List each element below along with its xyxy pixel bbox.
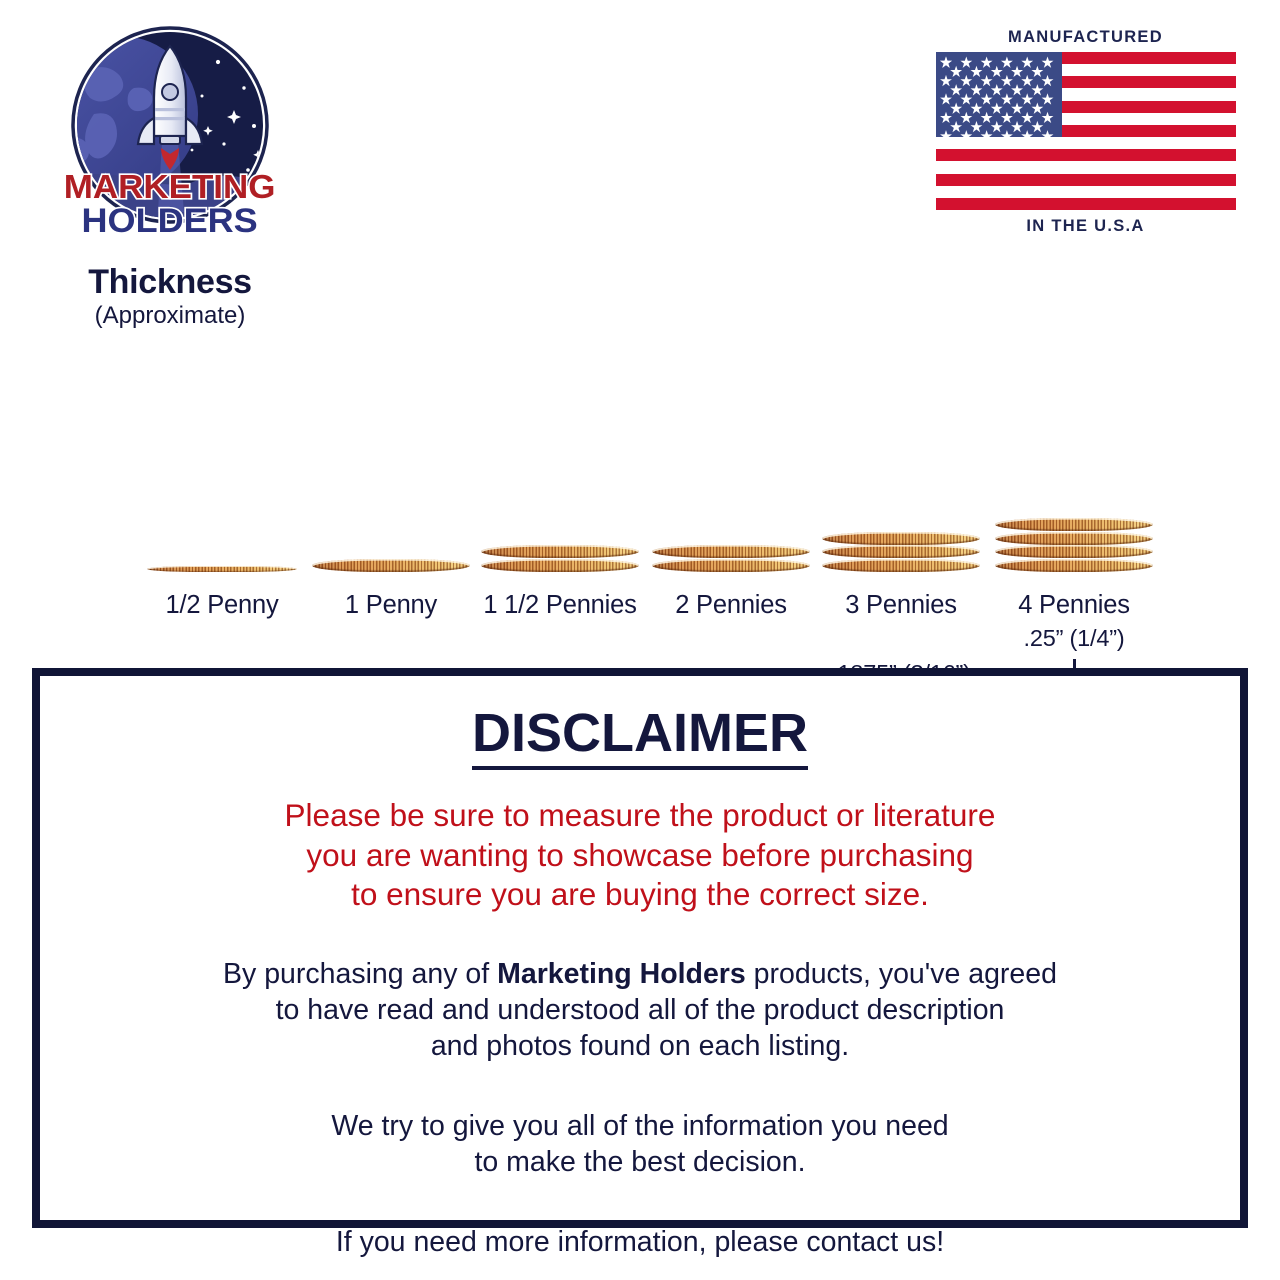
penny-coin-icon [481,559,639,572]
stack-category-label: 4 Pennies [984,591,1164,620]
flag-canton [936,52,1062,137]
penny-stack [995,518,1153,572]
stack-category-label: 2 Pennies [641,591,821,620]
logo-text-marketing: MARKETING [64,169,276,206]
stack-category-label: 3 Pennies [811,591,991,620]
stack-category-label: 1/2 Penny [132,591,312,620]
page-subtitle: (Approximate) [30,302,310,331]
us-flag-icon [936,52,1236,210]
penny-stack [147,566,297,573]
penny-coin-icon [822,559,980,572]
infographic-page: MARKETING HOLDERS Thickness (Approximate… [0,0,1280,1280]
disclaimer-warning-text: Please be sure to measure the product or… [80,796,1200,915]
penny-coin-icon [652,559,810,572]
penny-coin-icon [652,545,810,558]
disclaimer-info-text: We try to give you all of the informatio… [80,1109,1200,1181]
made-in-usa-block: MANUFACTURED [933,28,1238,236]
penny-stack [652,545,810,572]
penny-coin-icon [822,532,980,545]
page-title: Thickness [30,265,310,301]
brand-logo-block: MARKETING HOLDERS Thickness (Approximate… [30,22,310,342]
marketing-holders-logo: MARKETING HOLDERS [58,22,283,247]
penny-coin-icon [995,518,1153,531]
disclaimer-panel: DISCLAIMER Please be sure to measure the… [32,668,1248,1228]
penny-stack [822,532,980,573]
disclaimer-body-pre: By purchasing any of [223,958,497,990]
penny-coin-icon [481,545,639,558]
penny-coin-icon [822,545,980,558]
penny-coin-icon [147,566,297,572]
penny-stack [312,559,470,573]
disclaimer-title: DISCLAIMER [472,702,808,770]
disclaimer-brand-name: Marketing Holders [497,958,746,990]
penny-coin-icon [995,532,1153,545]
thickness-chart: .030” (1/32”)1/2 Penny.060” (1/16”)1 Pen… [0,330,1280,620]
disclaimer-body-text: By purchasing any of Marketing Holders p… [80,957,1200,1065]
penny-coin-icon [995,545,1153,558]
stack-category-label: 1 Penny [301,591,481,620]
penny-coin-icon [995,559,1153,572]
disclaimer-contact-text: If you need more information, please con… [80,1225,1200,1261]
flag-caption-top: MANUFACTURED [933,28,1238,47]
logo-text-holders: HOLDERS [82,202,258,240]
penny-coin-icon [312,559,470,572]
flag-caption-bottom: IN THE U.S.A [933,217,1238,236]
penny-stack [481,545,639,572]
stack-category-label: 1 1/2 Pennies [470,591,650,620]
measurement-label: .25” (1/4”) [1024,625,1125,652]
